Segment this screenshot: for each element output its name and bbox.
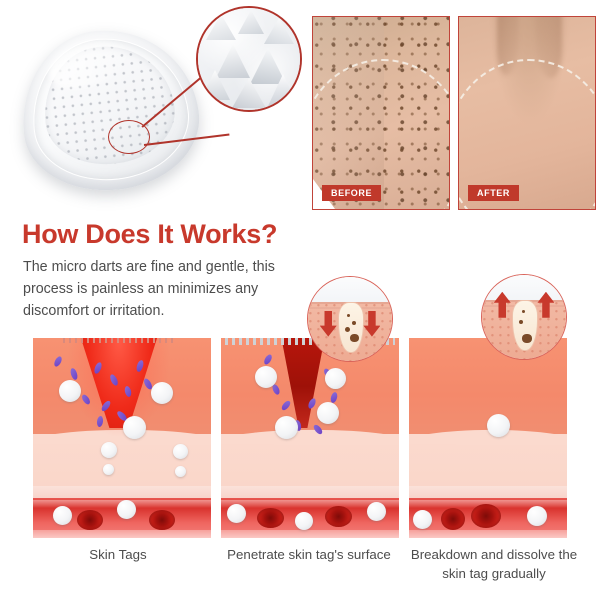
red-blood-cell — [257, 508, 284, 528]
white-blood-cell — [103, 464, 114, 475]
skin-cross-section — [409, 338, 567, 538]
debris-clump — [522, 334, 532, 343]
caption-step-3: Breakdown and dissolve the skin tag grad… — [402, 545, 586, 597]
cavity-rim-teeth — [63, 338, 175, 343]
before-after-comparison: BEFORE AFTER — [312, 16, 596, 210]
white-blood-cell — [123, 416, 146, 439]
product-patch-image — [14, 8, 214, 203]
step-2-diagram — [221, 338, 399, 538]
red-blood-cell — [325, 506, 352, 527]
skin-cross-section — [33, 338, 211, 538]
white-blood-cell — [117, 500, 136, 519]
after-photo: AFTER — [458, 16, 596, 210]
white-blood-cell — [59, 380, 81, 402]
infographic-stage: BEFORE AFTER How Does It Works? The micr… — [0, 0, 600, 600]
caption-step-1: Skin Tags — [20, 545, 216, 597]
debris-particle — [347, 314, 350, 317]
white-blood-cell — [295, 512, 313, 530]
red-blood-cell — [149, 510, 175, 530]
after-label: AFTER — [468, 185, 519, 201]
white-blood-cell — [175, 466, 186, 477]
white-blood-cell — [227, 504, 246, 523]
red-blood-cell — [441, 508, 465, 530]
white-blood-cell — [151, 382, 173, 404]
white-blood-cell — [487, 414, 510, 437]
white-blood-cell — [255, 366, 277, 388]
white-blood-cell — [173, 444, 188, 459]
white-blood-cell — [317, 402, 339, 424]
step-1-diagram — [33, 338, 211, 538]
vessel-lower-wall — [409, 530, 567, 538]
before-label: BEFORE — [322, 185, 381, 201]
white-blood-cell — [53, 506, 72, 525]
white-blood-cell — [367, 502, 386, 521]
microneedle-magnifier-icon — [196, 6, 302, 112]
vessel-lower-wall — [33, 530, 211, 538]
red-blood-cell — [77, 510, 103, 530]
step-captions: Skin Tags Penetrate skin tag's surface B… — [20, 545, 586, 597]
debris-clump — [350, 334, 359, 342]
white-blood-cell — [101, 442, 117, 458]
dissolving-closeup-inset — [481, 274, 567, 360]
vessel-lower-wall — [221, 530, 399, 538]
process-step-panels — [33, 338, 567, 538]
page-title: How Does It Works? — [22, 219, 277, 250]
white-blood-cell — [275, 416, 298, 439]
page-description: The micro darts are fine and gentle, thi… — [23, 256, 323, 322]
white-blood-cell — [527, 506, 547, 526]
before-photo: BEFORE — [312, 16, 450, 210]
white-blood-cell — [413, 510, 432, 529]
caption-step-2: Penetrate skin tag's surface — [216, 545, 402, 597]
skin-cross-section — [221, 338, 399, 538]
white-blood-cell — [325, 368, 346, 389]
red-blood-cell — [471, 504, 501, 528]
penetration-closeup-inset — [307, 276, 393, 362]
debris-particle — [352, 321, 356, 325]
step-3-diagram — [409, 338, 567, 538]
